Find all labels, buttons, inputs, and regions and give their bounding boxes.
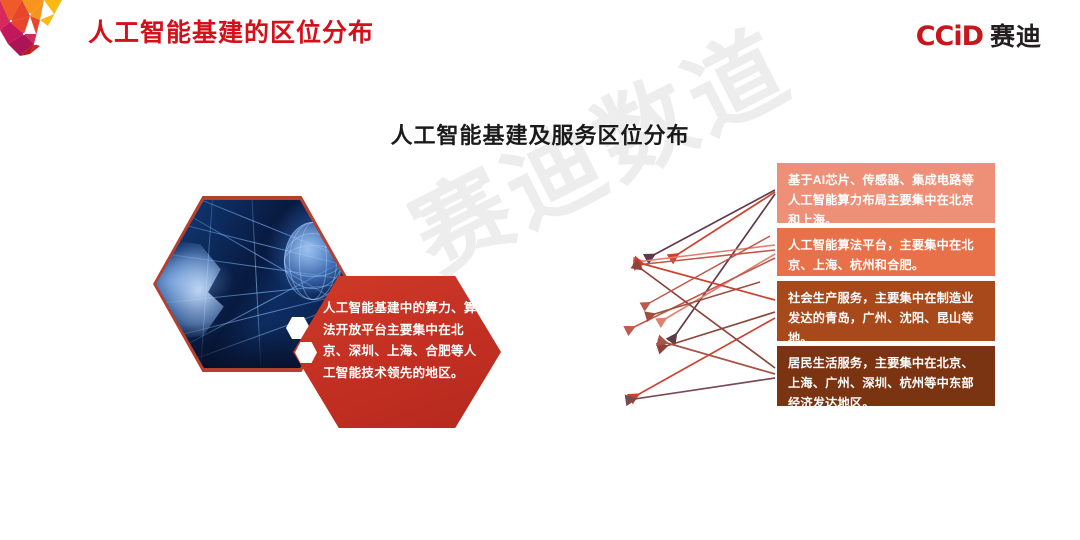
page-header: 人工智能基建的区位分布 CCiD 赛迪 <box>0 0 1080 68</box>
arrow-line <box>648 190 775 258</box>
arrow-line <box>628 258 775 330</box>
arrow-line <box>644 236 770 306</box>
chart-title: 人工智能基建及服务区位分布 <box>0 118 1080 150</box>
logo-cn-text: 赛迪 <box>990 17 1042 53</box>
hex-callout-box: 人工智能基建中的算力、算法开放平台主要集中在北京、深圳、上海、合肥等人工智能技术… <box>293 276 501 428</box>
arrow-line <box>636 250 775 265</box>
info-box-ai-compute-layout: 基于AI芯片、传感器、集成电路等人工智能算力布局主要集中在北京和上海。 <box>777 163 995 223</box>
page-title: 人工智能基建的区位分布 <box>88 13 374 49</box>
info-box-social-production-service: 社会生产服务，主要集中在制造业发达的青岛，广州、沈阳、昆山等地。 <box>777 281 995 341</box>
arrow-line <box>636 245 775 262</box>
arrow-line <box>648 282 760 316</box>
ccid-logo: CCiD 赛迪 <box>916 17 1042 53</box>
arrow-line <box>660 254 775 322</box>
info-box-resident-life-service: 居民生活服务，主要集中在北京、上海、广州、深圳、杭州等中东部经济发达地区。 <box>777 346 995 406</box>
arrow-line <box>632 318 775 398</box>
info-box-ai-algorithm-platform: 人工智能算法平台，主要集中在北京、上海、杭州和合肥。 <box>777 228 995 276</box>
logo-ccid-text: CCiD <box>916 21 983 52</box>
arrow-line <box>672 192 775 258</box>
arrow-line <box>660 312 775 348</box>
arrow-line <box>636 265 775 368</box>
hex-callout-text: 人工智能基建中的算力、算法开放平台主要集中在北京、深圳、上海、合肥等人工智能技术… <box>323 298 481 384</box>
low-poly-triangles-icon <box>0 0 62 58</box>
arrow-line <box>660 341 775 374</box>
arrow-line <box>636 262 775 300</box>
arrow-line <box>672 194 775 340</box>
arrow-line <box>628 378 775 400</box>
